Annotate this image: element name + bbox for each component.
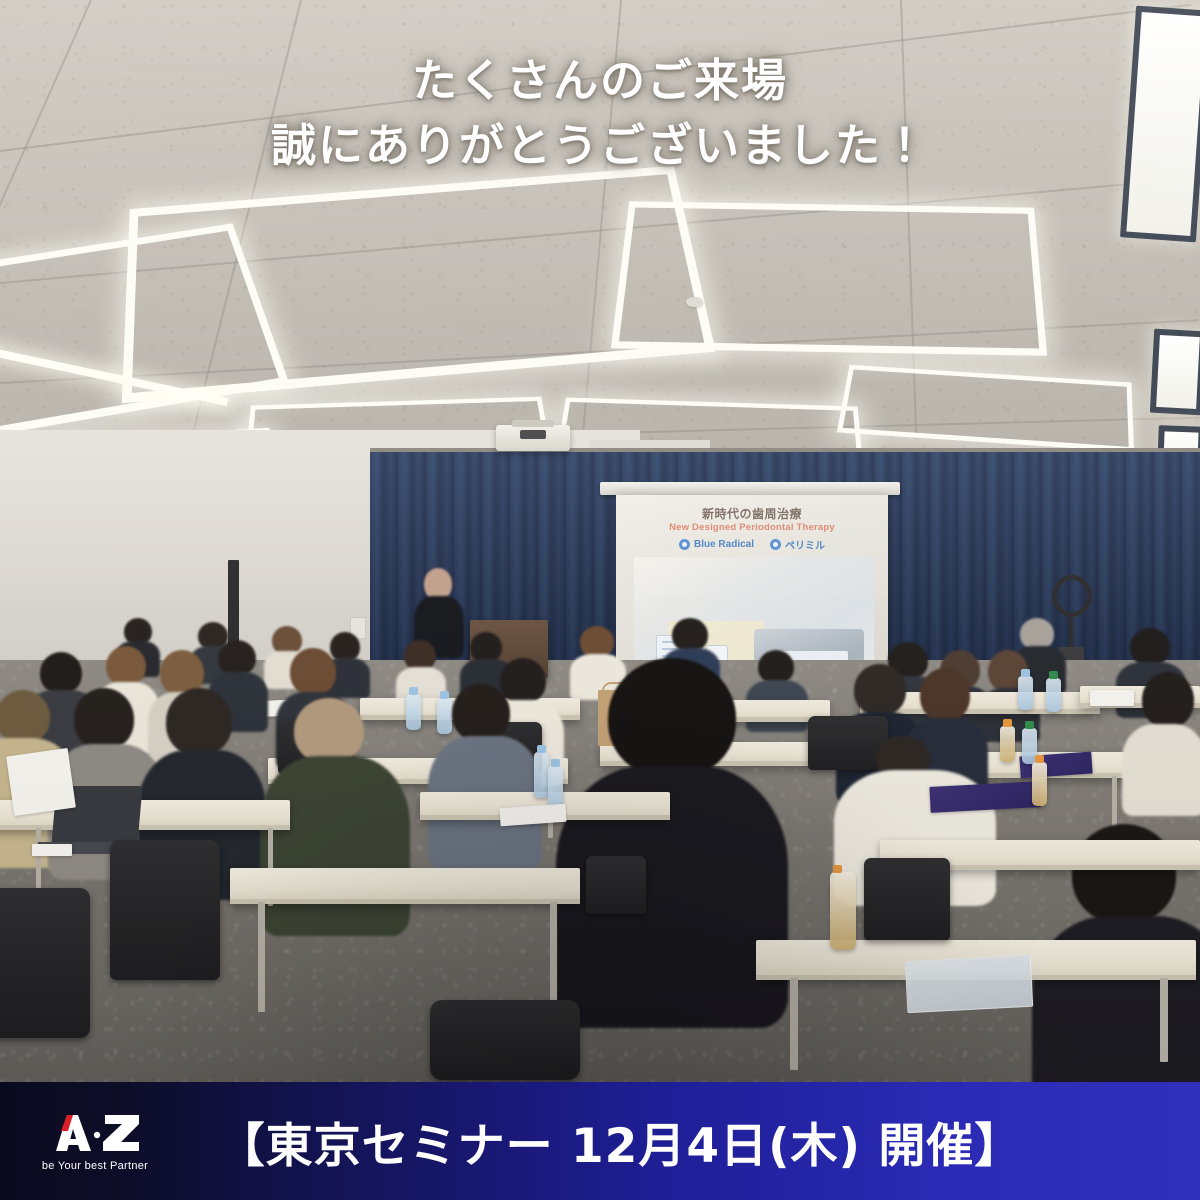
window-panel bbox=[1150, 329, 1200, 416]
headline-line-2: 誠にありがとうございました！ bbox=[0, 117, 1200, 176]
seminar-chair bbox=[586, 856, 646, 914]
water-bottle bbox=[437, 698, 452, 734]
headline-line-1: たくさんのご来場 bbox=[0, 52, 1200, 111]
seminar-room-photo: 新時代の歯周治療 New Designed Periodontal Therap… bbox=[0, 0, 1200, 1200]
attendee-head bbox=[1130, 628, 1170, 666]
attendee-head bbox=[672, 618, 708, 652]
blue-radical-logo: Blue Radical bbox=[679, 539, 754, 550]
tea-bottle bbox=[1000, 726, 1015, 762]
attendee-head bbox=[452, 684, 510, 742]
bottom-banner: be Your best Partner 【東京セミナー 12月4日(木) 開催… bbox=[0, 1082, 1200, 1200]
seminar-table bbox=[230, 868, 580, 904]
attendee-head bbox=[920, 668, 970, 722]
banner-title: 【東京セミナー 12月4日(木) 開催】 bbox=[190, 1107, 1200, 1176]
seminar-chair bbox=[0, 888, 90, 1038]
smoke-detector bbox=[686, 297, 703, 307]
ring-light bbox=[1052, 575, 1092, 617]
craft-boss-bottle bbox=[830, 872, 856, 950]
projection-screen: 新時代の歯周治療 New Designed Periodontal Therap… bbox=[616, 495, 888, 680]
brand-logo: be Your best Partner bbox=[0, 1082, 190, 1200]
table-leg bbox=[258, 902, 265, 1012]
table-leg bbox=[790, 978, 798, 1070]
attendee-head bbox=[0, 690, 50, 744]
headline-overlay: たくさんのご来場 誠にありがとうございました！ bbox=[0, 52, 1200, 175]
slide-logos: Blue Radical ペリミル bbox=[616, 537, 888, 552]
attendee-head bbox=[854, 664, 906, 716]
handout bbox=[6, 748, 76, 816]
attendee-head bbox=[758, 650, 794, 684]
az-logo-icon bbox=[47, 1111, 143, 1155]
water-bottle bbox=[534, 752, 549, 798]
attendee-head bbox=[74, 688, 134, 750]
ceiling-light-fixture bbox=[611, 201, 1047, 356]
water-bottle bbox=[1018, 676, 1033, 710]
table-leg bbox=[1160, 978, 1168, 1062]
attendee-head bbox=[500, 658, 546, 704]
perimil-logo: ペリミル bbox=[770, 537, 825, 552]
ceiling-projector bbox=[496, 425, 570, 451]
slide-title-ja: 新時代の歯周治療 bbox=[616, 505, 888, 522]
seminar-chair bbox=[430, 1000, 580, 1080]
handout bbox=[32, 844, 72, 856]
table-leg bbox=[550, 902, 557, 1007]
attendee-head bbox=[218, 640, 256, 676]
handout bbox=[1090, 690, 1134, 706]
tea-bottle bbox=[1032, 762, 1047, 806]
seminar-chair bbox=[110, 840, 220, 980]
attendee-head bbox=[608, 658, 736, 778]
attendee-head bbox=[166, 688, 232, 756]
water-bottle bbox=[1046, 678, 1061, 712]
attendee-body bbox=[1122, 724, 1200, 816]
slide-subtitle-en: New Designed Periodontal Therapy bbox=[616, 522, 888, 533]
table-leg bbox=[1112, 776, 1117, 830]
attendee-head bbox=[40, 652, 82, 694]
attendee-head bbox=[106, 646, 146, 686]
perimil-icon bbox=[770, 539, 781, 550]
attendee-body bbox=[260, 756, 410, 936]
projection-screen-housing bbox=[600, 482, 900, 495]
wall-slot bbox=[228, 560, 239, 652]
perimil-label: ペリミル bbox=[785, 537, 825, 552]
seminar-photo-card: 新時代の歯周治療 New Designed Periodontal Therap… bbox=[0, 0, 1200, 1200]
blue-radical-label: Blue Radical bbox=[694, 539, 754, 550]
attendee-head bbox=[290, 648, 336, 696]
attendee-head bbox=[294, 698, 364, 764]
seminar-chair bbox=[864, 858, 950, 940]
attendee-head bbox=[1142, 672, 1194, 728]
water-bottle bbox=[406, 694, 421, 730]
brand-tagline: be Your best Partner bbox=[42, 1160, 148, 1172]
blue-radical-icon bbox=[679, 539, 690, 550]
clear-folder bbox=[905, 955, 1034, 1014]
attendee-head bbox=[1072, 824, 1176, 924]
